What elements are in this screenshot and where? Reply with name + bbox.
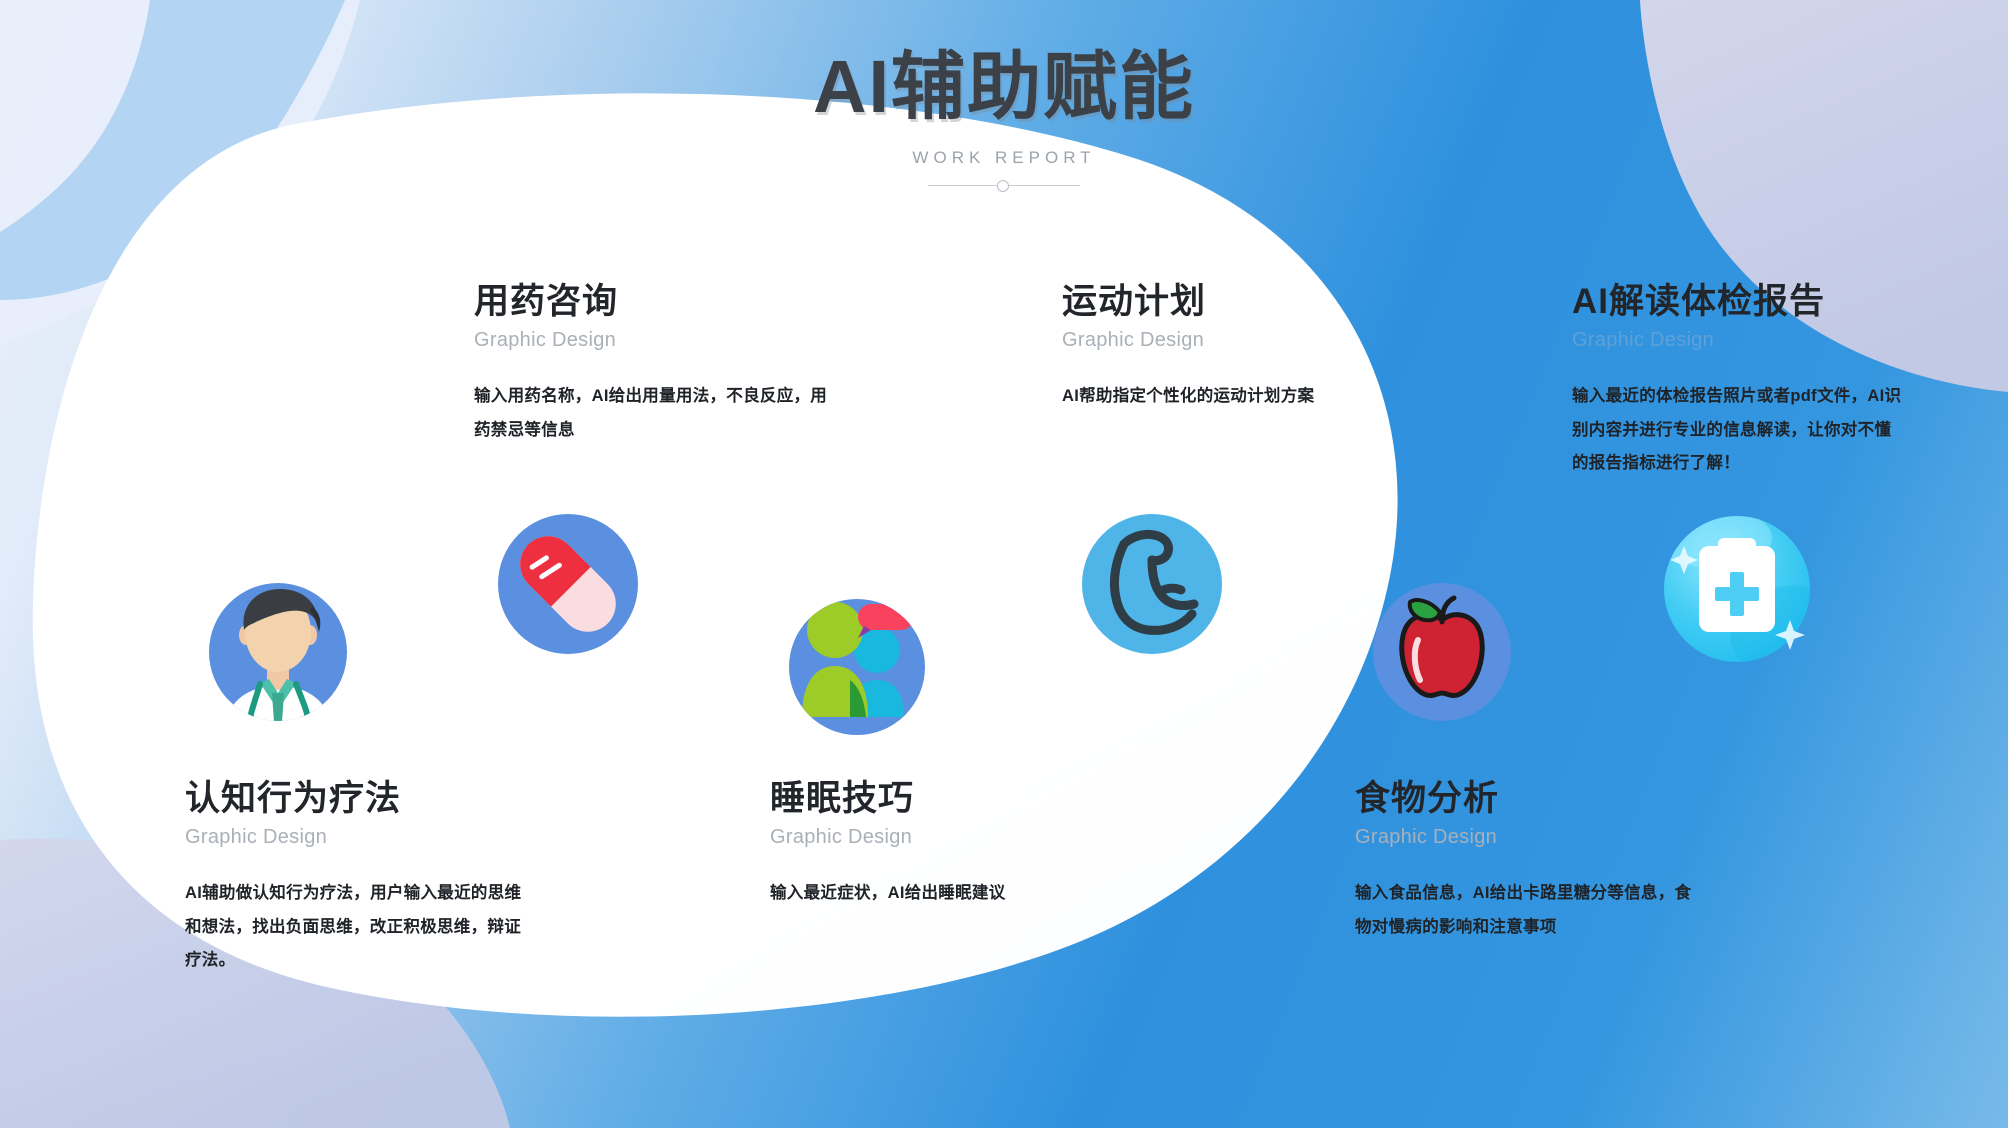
feature-description: AI辅助做认知行为疗法，用户输入最近的思维和想法，找出负面思维，改正积极思维，辩…: [185, 877, 535, 978]
slide-canvas: AI辅助赋能 WORK REPORT 用药咨询 Graphic Design 输…: [0, 0, 2008, 1128]
apple-icon: [1352, 562, 1532, 742]
icon-pill[interactable]: [478, 494, 658, 679]
feature-title: AI解读体检报告: [1572, 281, 1902, 324]
medical-clipboard-icon: [1642, 494, 1832, 684]
feature-title: 睡眠技巧: [770, 778, 1070, 821]
page-title: AI辅助赋能: [0, 48, 2008, 126]
icon-people-chat[interactable]: [772, 582, 942, 757]
feature-title: 认知行为疗法: [185, 778, 535, 821]
feature-title: 食物分析: [1355, 778, 1695, 821]
feature-description: 输入最近的体检报告照片或者pdf文件，AI识别内容并进行专业的信息解读，让你对不…: [1572, 380, 1902, 481]
page-subtitle: WORK REPORT: [0, 148, 2008, 168]
feature-description: 输入用药名称，AI给出用量用法，不良反应，用药禁忌等信息: [474, 380, 834, 448]
divider-dot-icon: [997, 180, 1009, 192]
people-chat-icon: [772, 582, 942, 752]
feature-subtitle: Graphic Design: [1062, 329, 1362, 352]
feature-block-report: AI解读体检报告 Graphic Design 输入最近的体检报告照片或者pdf…: [1572, 281, 1902, 481]
feature-subtitle: Graphic Design: [770, 826, 1070, 849]
icon-doctor-avatar[interactable]: [188, 562, 368, 747]
header-divider: [928, 180, 1080, 192]
icon-flexed-arm[interactable]: [1062, 494, 1242, 679]
feature-title: 用药咨询: [474, 281, 834, 324]
flexed-arm-icon: [1062, 494, 1242, 674]
feature-description: 输入最近症状，AI给出睡眠建议: [770, 877, 1070, 911]
feature-block-cbt: 认知行为疗法 Graphic Design AI辅助做认知行为疗法，用户输入最近…: [185, 778, 535, 978]
feature-subtitle: Graphic Design: [1355, 826, 1695, 849]
icon-medical-clipboard[interactable]: [1642, 494, 1832, 689]
slide-header: AI辅助赋能 WORK REPORT: [0, 48, 2008, 192]
feature-block-medication: 用药咨询 Graphic Design 输入用药名称，AI给出用量用法，不良反应…: [474, 281, 834, 447]
doctor-avatar-icon: [188, 562, 368, 742]
feature-description: AI帮助指定个性化的运动计划方案: [1062, 380, 1362, 414]
feature-block-exercise: 运动计划 Graphic Design AI帮助指定个性化的运动计划方案: [1062, 281, 1362, 414]
feature-block-sleep: 睡眠技巧 Graphic Design 输入最近症状，AI给出睡眠建议: [770, 778, 1070, 911]
feature-title: 运动计划: [1062, 281, 1362, 324]
feature-subtitle: Graphic Design: [185, 826, 535, 849]
feature-subtitle: Graphic Design: [1572, 329, 1902, 352]
pill-icon: [478, 494, 658, 674]
feature-subtitle: Graphic Design: [474, 329, 834, 352]
icon-apple[interactable]: [1352, 562, 1532, 747]
feature-description: 输入食品信息，AI给出卡路里糖分等信息，食物对慢病的影响和注意事项: [1355, 877, 1695, 945]
feature-block-food: 食物分析 Graphic Design 输入食品信息，AI给出卡路里糖分等信息，…: [1355, 778, 1695, 944]
